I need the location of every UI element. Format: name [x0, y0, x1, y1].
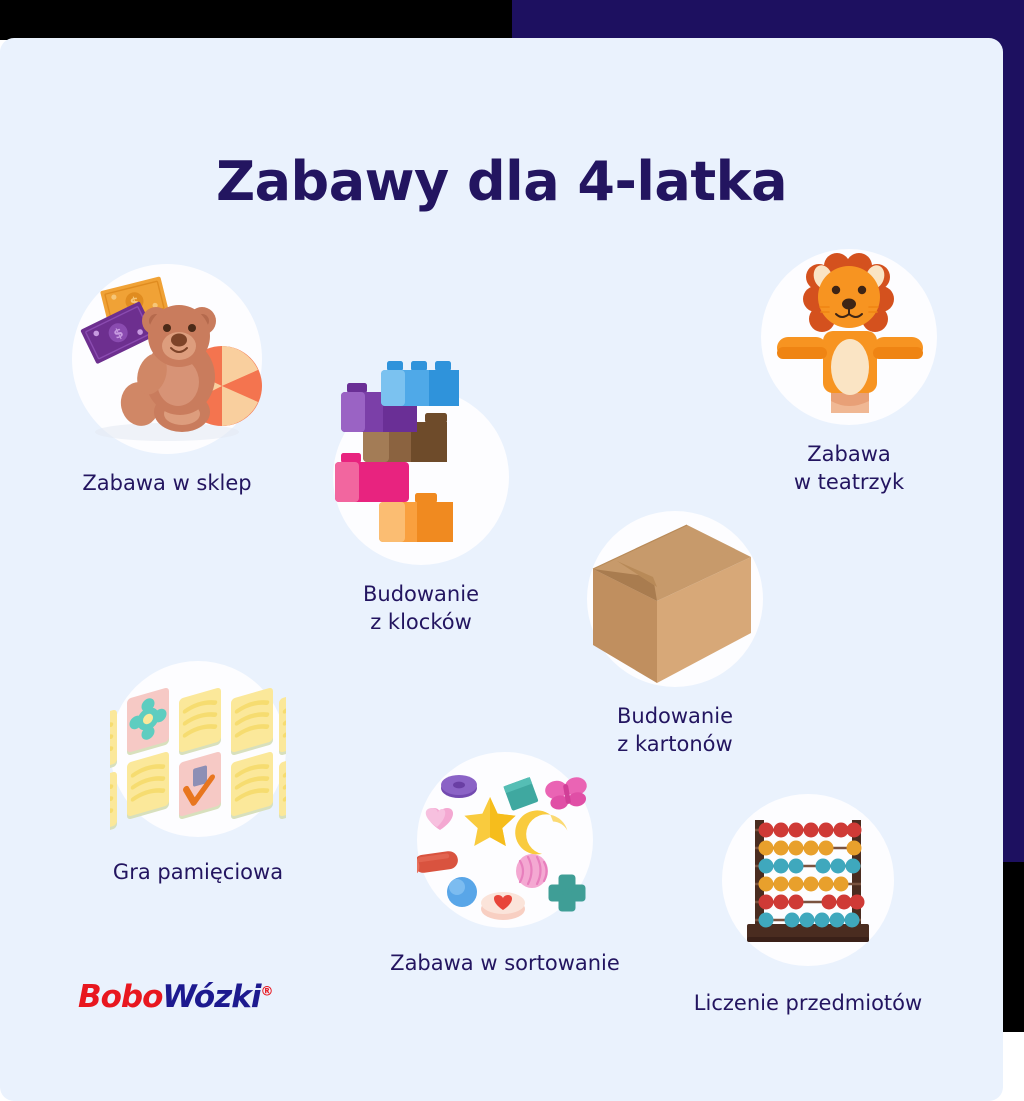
- item-label-budowanie-z-klockow: Budowanie z klocków: [363, 581, 479, 636]
- item-label-gra-pamieciowa: Gra pamięciowa: [113, 859, 283, 887]
- item-label-line2: z kartonów: [617, 731, 733, 759]
- bobowozki-logo[interactable]: BoboWózki®: [78, 982, 273, 1013]
- item-gra-pamieciowa: Gra pamięciowa: [110, 661, 286, 837]
- item-liczenie-przedmiotow: Liczenie przedmiotów: [722, 794, 894, 966]
- logo-registered-mark: ®: [261, 985, 273, 1000]
- item-zabawa-w-sklep: $ $: [72, 264, 262, 454]
- assorted-sorting-shapes-icon: [417, 752, 593, 928]
- lion-hand-puppet-icon: [761, 249, 937, 425]
- cardboard-box-icon: [587, 511, 763, 687]
- infographic-canvas: Zabawy dla 4-latka $: [0, 0, 1024, 1101]
- item-label-line1: Budowanie: [363, 581, 479, 609]
- teddy-bear-money-ball-svg: $ $: [72, 264, 262, 454]
- item-label-line1: Zabawa: [794, 441, 904, 469]
- item-label-line2: w teatrzyk: [794, 469, 904, 497]
- background-band-black-right: [1003, 862, 1024, 1032]
- item-budowanie-z-kartonow: Budowanie z kartonów: [587, 511, 763, 687]
- item-label-zabawa-w-teatrzyk: Zabawa w teatrzyk: [794, 441, 904, 496]
- item-label-budowanie-z-kartonow: Budowanie z kartonów: [617, 703, 733, 758]
- background-band-black-top: [0, 0, 512, 40]
- item-zabawa-w-sortowanie: Zabawa w sortowanie: [417, 752, 593, 928]
- memory-game-cards-svg: [110, 661, 286, 837]
- item-label-zabawa-w-sklep: Zabawa w sklep: [82, 470, 251, 498]
- memory-game-cards-icon: [110, 661, 286, 837]
- item-budowanie-z-klockow: Budowanie z klocków: [333, 359, 509, 565]
- item-label-zabawa-w-sortowanie: Zabawa w sortowanie: [390, 950, 620, 978]
- background-band-white-bottom: [1003, 1032, 1024, 1101]
- logo-part-wozki: Wózki: [162, 979, 260, 1015]
- stacked-building-blocks-icon: [333, 389, 509, 565]
- item-zabawa-w-teatrzyk: Zabawa w teatrzyk: [761, 249, 937, 425]
- abacus-icon: [722, 794, 894, 966]
- item-label-line2: z klocków: [363, 609, 479, 637]
- teddy-bear-money-ball-icon: $ $: [72, 264, 262, 454]
- abacus-svg: [722, 794, 894, 966]
- assorted-sorting-shapes-svg: [417, 752, 593, 928]
- infographic-card: Zabawy dla 4-latka $: [0, 38, 1003, 1101]
- item-label-line1: Budowanie: [617, 703, 733, 731]
- item-label-liczenie-przedmiotow: Liczenie przedmiotów: [694, 990, 922, 1018]
- stacked-building-blocks-svg: [333, 359, 509, 569]
- cardboard-box-svg: [587, 511, 763, 687]
- lion-hand-puppet-svg: [761, 249, 937, 425]
- page-title: Zabawy dla 4-latka: [0, 152, 1003, 211]
- logo-part-bobo: Bobo: [78, 979, 162, 1015]
